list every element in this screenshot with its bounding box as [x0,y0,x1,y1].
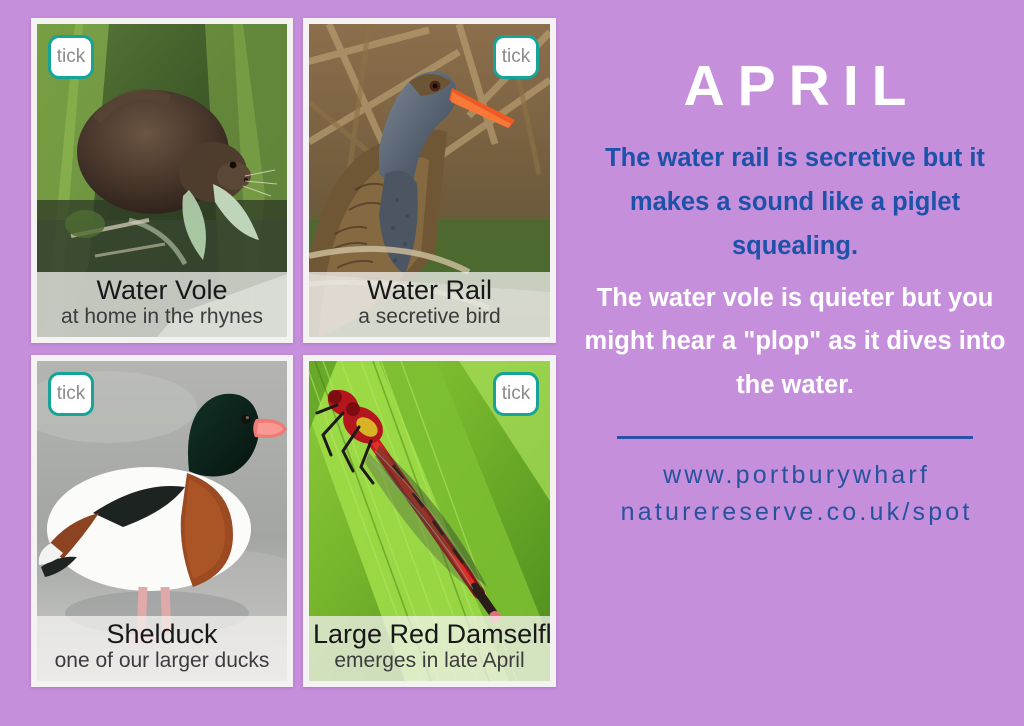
tick-label: tick [502,46,531,68]
card-caption: Water Vole at home in the rhynes [37,272,287,337]
card-title: Shelduck [41,620,283,649]
card-photo-frame: tick Water Rail a secretive bird [309,24,550,337]
tick-label: tick [57,383,86,405]
card-photo-frame: tick Large Red Damselfly emerges in late… [309,361,550,681]
card-title: Water Vole [41,276,283,305]
website-url-line-1: www.portburywharf [566,457,1024,494]
divider [617,436,973,439]
card-title: Water Rail [313,276,546,305]
species-card-large-red-damselfly[interactable]: tick Large Red Damselfly emerges in late… [303,355,556,687]
card-subtitle: at home in the rhynes [41,305,283,329]
website-url-line-2: naturereserve.co.uk/spot [566,494,1024,531]
card-caption: Shelduck one of our larger ducks [37,616,287,681]
species-card-shelduck[interactable]: tick Shelduck one of our larger ducks [31,355,293,687]
tick-badge[interactable]: tick [493,35,539,79]
species-card-water-rail[interactable]: tick Water Rail a secretive bird [303,18,556,343]
species-card-water-vole[interactable]: tick Water Vole at home in the rhynes [31,18,293,343]
tick-label: tick [502,383,531,405]
card-subtitle: a secretive bird [313,305,546,329]
card-photo-frame: tick Water Vole at home in the rhynes [37,24,287,337]
card-photo-frame: tick Shelduck one of our larger ducks [37,361,287,681]
card-caption: Large Red Damselfly emerges in late Apri… [309,616,550,681]
card-caption: Water Rail a secretive bird [309,272,550,337]
card-subtitle: emerges in late April [313,649,546,673]
paragraph-water-rail: The water rail is secretive but it makes… [566,137,1024,269]
tick-badge[interactable]: tick [48,35,94,79]
tick-badge[interactable]: tick [493,372,539,416]
info-panel: APRIL The water rail is secretive but it… [566,0,1024,726]
tick-label: tick [57,46,86,68]
paragraph-water-vole: The water vole is quieter but you might … [566,277,1024,409]
card-title: Large Red Damselfly [313,620,546,649]
tick-badge[interactable]: tick [48,372,94,416]
card-subtitle: one of our larger ducks [41,649,283,673]
page-title: APRIL [566,58,1024,115]
website-url[interactable]: www.portburywharf naturereserve.co.uk/sp… [566,457,1024,530]
species-card-grid: tick Water Vole at home in the rhynes [31,18,556,687]
poster-canvas: tick Water Vole at home in the rhynes [0,0,1024,726]
